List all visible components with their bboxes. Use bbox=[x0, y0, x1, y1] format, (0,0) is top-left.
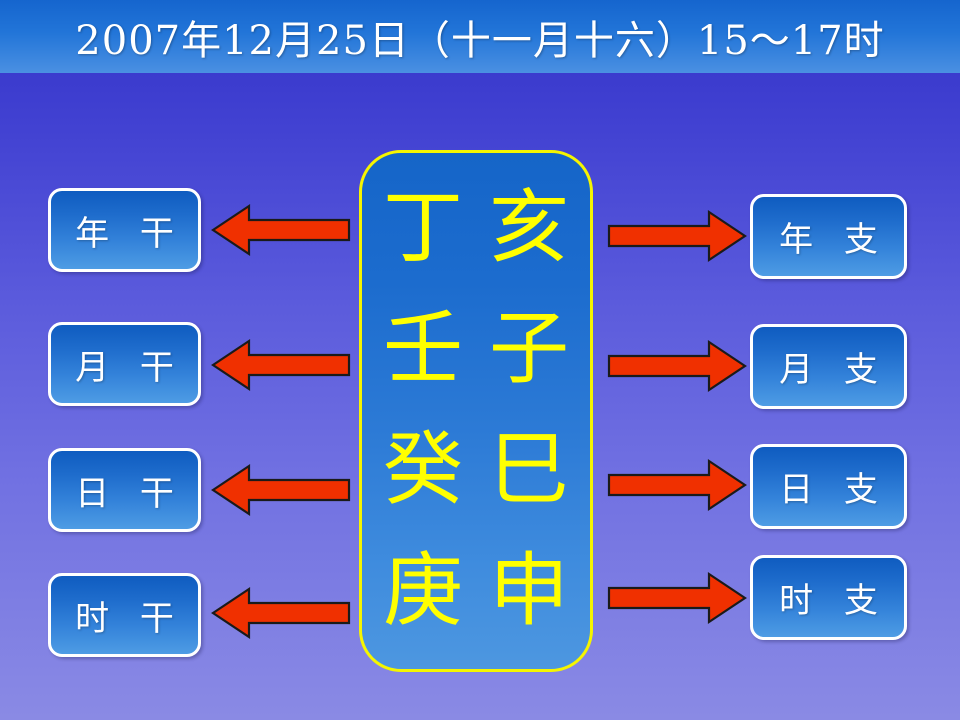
arrow-right-icon-month bbox=[607, 338, 747, 394]
label-box-year-branch[interactable]: 年 支 bbox=[750, 194, 907, 279]
pillar-hour-stem: 庚 bbox=[379, 551, 467, 631]
label-box-year-branch-text: 年 支 bbox=[769, 212, 888, 261]
label-box-month-stem-text: 月 干 bbox=[65, 340, 184, 389]
arrow-right-icon-hour bbox=[607, 570, 747, 626]
label-box-day-stem-text: 日 干 bbox=[65, 466, 184, 515]
pillar-row-hour: 庚 申 bbox=[362, 532, 590, 650]
label-box-year-stem[interactable]: 年 干 bbox=[48, 188, 201, 272]
arrow-left-icon-day bbox=[211, 462, 351, 518]
arrow-left-icon-hour bbox=[211, 585, 351, 641]
label-box-hour-branch[interactable]: 时 支 bbox=[750, 555, 907, 640]
label-box-day-branch-text: 日 支 bbox=[769, 462, 888, 511]
label-box-month-branch[interactable]: 月 支 bbox=[750, 324, 907, 409]
arrow-left-icon-month bbox=[211, 337, 351, 393]
pillar-day-branch: 巳 bbox=[485, 430, 573, 510]
label-box-day-stem[interactable]: 日 干 bbox=[48, 448, 201, 532]
label-box-hour-stem[interactable]: 时 干 bbox=[48, 573, 201, 657]
pillar-year-stem: 丁 bbox=[379, 188, 467, 268]
pillar-row-month: 壬 子 bbox=[362, 290, 590, 408]
label-box-day-branch[interactable]: 日 支 bbox=[750, 444, 907, 529]
label-box-month-branch-text: 月 支 bbox=[769, 342, 888, 391]
pillar-hour-branch: 申 bbox=[485, 551, 573, 631]
arrow-right-icon-year bbox=[607, 208, 747, 264]
pillar-year-branch: 亥 bbox=[485, 188, 573, 268]
pillar-row-year: 丁 亥 bbox=[362, 169, 590, 287]
label-box-year-stem-text: 年 干 bbox=[65, 206, 184, 255]
arrow-right-icon-day bbox=[607, 457, 747, 513]
pillar-row-day: 癸 巳 bbox=[362, 411, 590, 529]
pillar-month-branch: 子 bbox=[485, 309, 573, 389]
label-box-hour-stem-text: 时 干 bbox=[65, 591, 184, 640]
pillar-day-stem: 癸 bbox=[379, 430, 467, 510]
label-box-month-stem[interactable]: 月 干 bbox=[48, 322, 201, 406]
four-pillars-panel: 丁 亥 壬 子 癸 巳 庚 申 bbox=[359, 150, 593, 672]
arrow-left-icon-year bbox=[211, 202, 351, 258]
pillar-month-stem: 壬 bbox=[379, 309, 467, 389]
title-band: 2007年12月25日（十一月十六）15～17时 bbox=[0, 0, 960, 73]
slide-canvas: 2007年12月25日（十一月十六）15～17时 年 干 月 干 日 干 时 干… bbox=[0, 0, 960, 720]
page-title: 2007年12月25日（十一月十六）15～17时 bbox=[75, 8, 884, 66]
label-box-hour-branch-text: 时 支 bbox=[769, 573, 888, 622]
